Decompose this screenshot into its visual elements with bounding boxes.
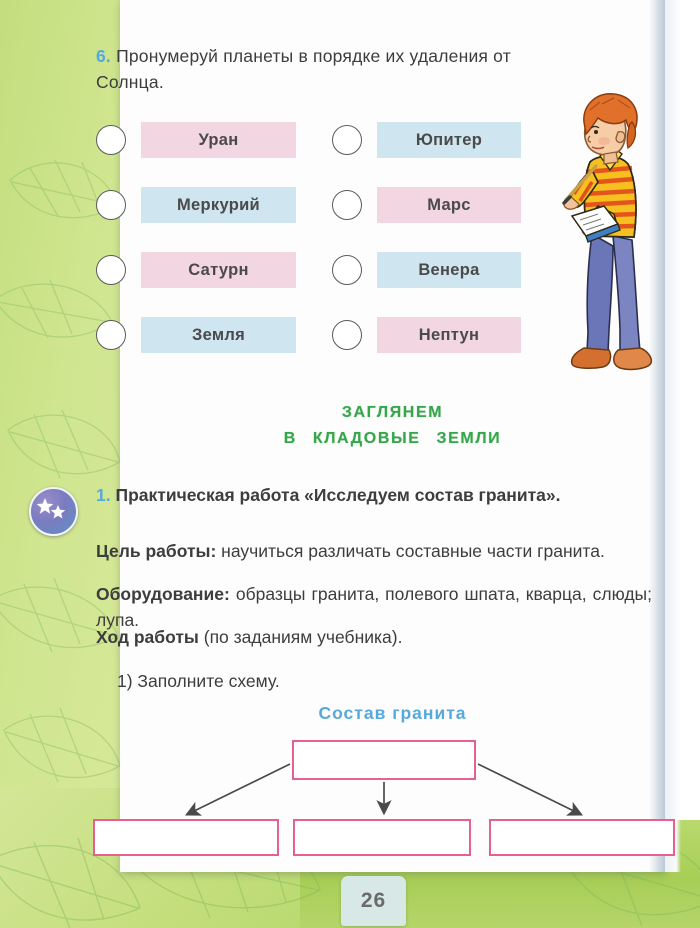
planet-label-mars: Марс [377,187,521,223]
task-6-text-line1: Пронумеруй планеты в порядке их удаления… [116,46,511,66]
planet-label-neptun: Нептун [377,317,521,353]
task-1-heading: 1. Практическая работа «Исследуем состав… [96,482,652,508]
goal-text: научиться различать составные части гран… [216,541,605,561]
number-circle-zemlya[interactable] [96,320,126,350]
task-1-number: 1. [96,485,111,505]
number-circle-saturn[interactable] [96,255,126,285]
page-number: 26 [361,889,386,913]
scheme-box-right[interactable] [489,819,675,856]
planet-row-neptun[interactable]: Нептун [332,317,521,353]
number-circle-neptun[interactable] [332,320,362,350]
scheme-box-top[interactable] [292,740,476,780]
number-circle-uran[interactable] [96,125,126,155]
two-stars-badge-icon [29,487,78,536]
number-circle-yupiter[interactable] [332,125,362,155]
number-circle-mars[interactable] [332,190,362,220]
planet-label-uran: Уран [141,122,296,158]
planet-label-merkuriy: Меркурий [141,187,296,223]
equipment-label: Оборудование: [96,584,230,604]
number-circle-merkuriy[interactable] [96,190,126,220]
task-6-number: 6. [96,46,111,66]
scheme-box-left[interactable] [93,819,279,856]
planet-row-merkuriy[interactable]: Меркурий [96,187,296,223]
workbook-page: 6. Пронумеруй планеты в порядке их удале… [0,0,700,928]
step-1-text: 1) Заполните схему. [117,668,637,694]
planet-row-mars[interactable]: Марс [332,187,521,223]
boy-writing-illustration [556,84,666,379]
course-label: Ход работы [96,627,199,647]
planet-label-venera: Венера [377,252,521,288]
planet-row-uran[interactable]: Уран [96,122,296,158]
planet-row-zemlya[interactable]: Земля [96,317,296,353]
number-circle-venera[interactable] [332,255,362,285]
course-text: (по заданиям учебника). [199,627,403,647]
planet-label-zemlya: Земля [141,317,296,353]
planet-row-saturn[interactable]: Сатурн [96,252,296,288]
section-title: Заглянем в кладовые Земли [120,396,665,448]
planet-label-yupiter: Юпитер [377,122,521,158]
section-title-line2: в кладовые Земли [120,422,665,448]
course-paragraph: Ход работы (по заданиям учебника). [96,624,652,650]
planet-row-venera[interactable]: Венера [332,252,521,288]
planet-row-yupiter[interactable]: Юпитер [332,122,521,158]
task-6-text-line2: Солнца. [96,72,164,93]
scheme-box-middle[interactable] [293,819,471,856]
goal-label: Цель работы: [96,541,216,561]
section-title-line1: Заглянем [120,396,665,422]
task-1-heading-text: Практическая работа «Исследуем состав гр… [115,485,560,505]
goal-paragraph: Цель работы: научиться различать составн… [96,538,652,564]
task-6-prompt: 6. Пронумеруй планеты в порядке их удале… [96,46,656,67]
page-number-tab: 26 [341,876,406,926]
scheme-title: Состав гранита [120,703,665,724]
planet-label-saturn: Сатурн [141,252,296,288]
